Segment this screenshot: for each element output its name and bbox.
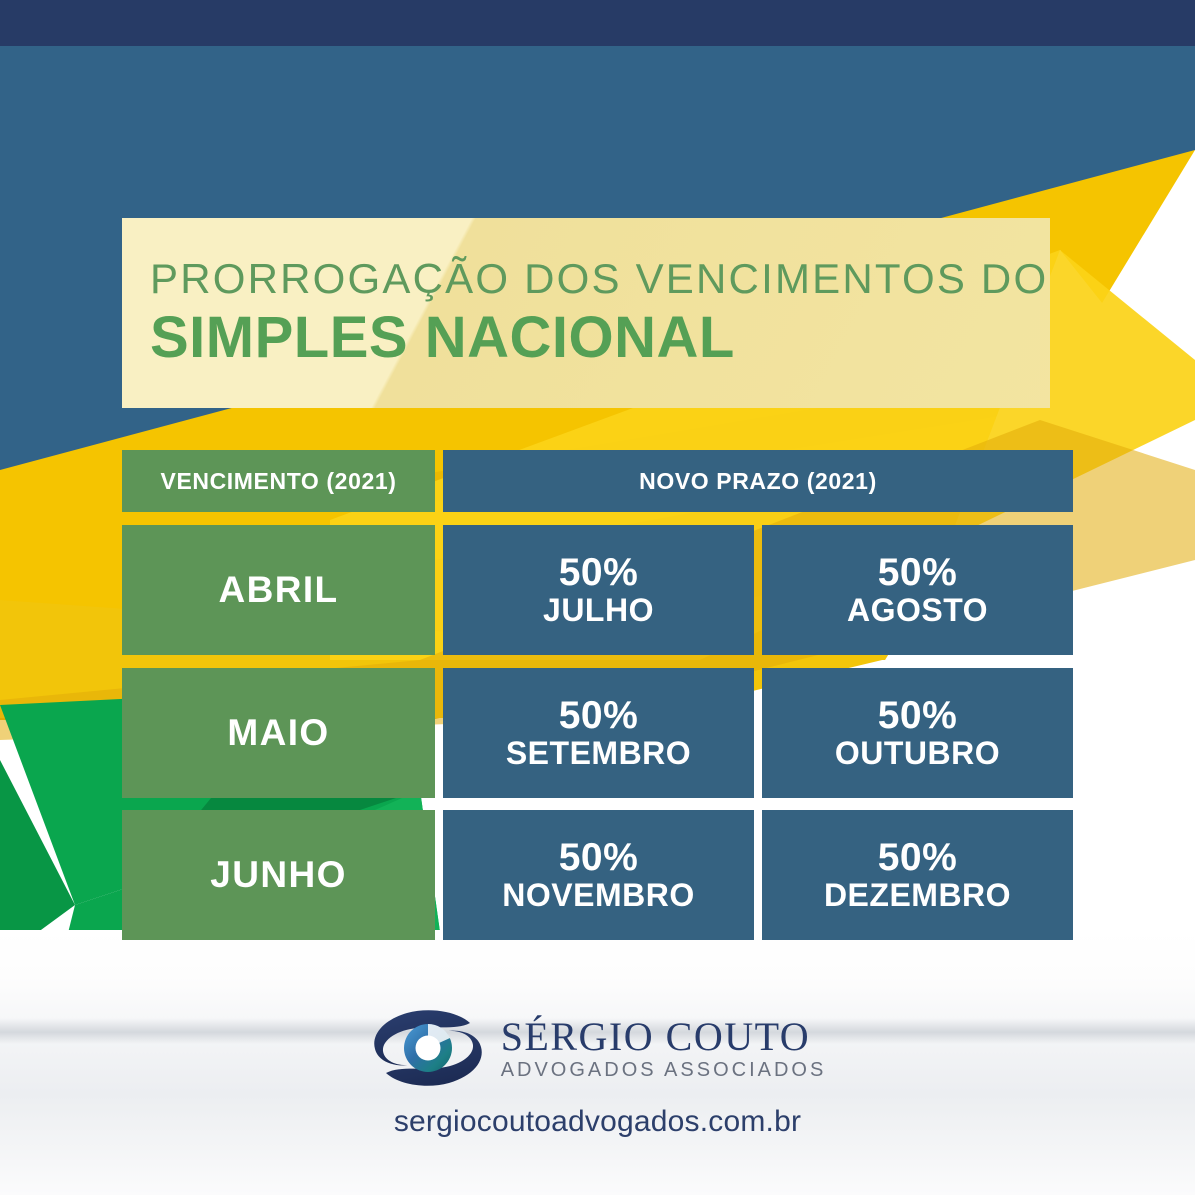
term-percent: 50% [878,838,958,877]
term-percent: 50% [559,553,639,592]
table-row: JUNHO 50% NOVEMBRO 50% DEZEMBRO [122,810,1073,940]
term-month: AGOSTO [847,593,988,628]
brand-subtitle: ADVOGADOS ASSOCIADOS [501,1060,827,1080]
cell-gap [435,810,443,940]
header-novo-prazo: NOVO PRAZO (2021) [443,450,1073,512]
term-month: JULHO [543,593,654,628]
header-vencimento: VENCIMENTO (2021) [122,450,435,512]
header-gap [435,450,443,512]
top-navy-band [0,0,1195,46]
term-percent: 50% [559,696,639,735]
infographic-poster: PRORROGAÇÃO DOS VENCIMENTOS DO SIMPLES N… [0,0,1195,1195]
term-cell: 50% DEZEMBRO [762,810,1073,940]
title-line-1: PRORROGAÇÃO DOS VENCIMENTOS DO [150,255,1070,302]
term-cell: 50% AGOSTO [762,525,1073,655]
row-month-cell: ABRIL [122,525,435,655]
title-line-2: SIMPLES NACIONAL [150,306,1070,371]
term-cell: 50% OUTUBRO [762,668,1073,798]
logo-lockup: SÉRGIO COUTO ADVOGADOS ASSOCIADOS [0,1005,1195,1091]
term-percent: 50% [878,553,958,592]
row-month-cell: JUNHO [122,810,435,940]
cell-gap [754,810,762,940]
cell-gap [754,668,762,798]
footer: SÉRGIO COUTO ADVOGADOS ASSOCIADOS sergio… [0,1005,1195,1139]
term-cell: 50% SETEMBRO [443,668,754,798]
table-header-row: VENCIMENTO (2021) NOVO PRAZO (2021) [122,450,1073,512]
logo-text-block: SÉRGIO COUTO ADVOGADOS ASSOCIADOS [501,1017,827,1080]
term-percent: 50% [559,838,639,877]
term-month: SETEMBRO [506,736,691,771]
table-row: MAIO 50% SETEMBRO 50% OUTUBRO [122,668,1073,798]
term-cell: 50% JULHO [443,525,754,655]
term-month: DEZEMBRO [824,878,1011,913]
cell-gap [435,668,443,798]
table-row: ABRIL 50% JULHO 50% AGOSTO [122,525,1073,655]
brand-name: SÉRGIO COUTO [501,1017,827,1057]
website-url: sergiocoutoadvogados.com.br [0,1105,1195,1139]
term-cell: 50% NOVEMBRO [443,810,754,940]
term-percent: 50% [878,696,958,735]
term-month: NOVEMBRO [502,878,694,913]
row-month-cell: MAIO [122,668,435,798]
term-month: OUTUBRO [835,736,1000,771]
deadlines-table: VENCIMENTO (2021) NOVO PRAZO (2021) ABRI… [122,450,1073,942]
top-blue-band [0,46,1195,186]
cell-gap [754,525,762,655]
cell-gap [435,525,443,655]
sergio-couto-swoosh-logo-icon [369,1005,487,1091]
page-title: PRORROGAÇÃO DOS VENCIMENTOS DO SIMPLES N… [150,255,1070,371]
